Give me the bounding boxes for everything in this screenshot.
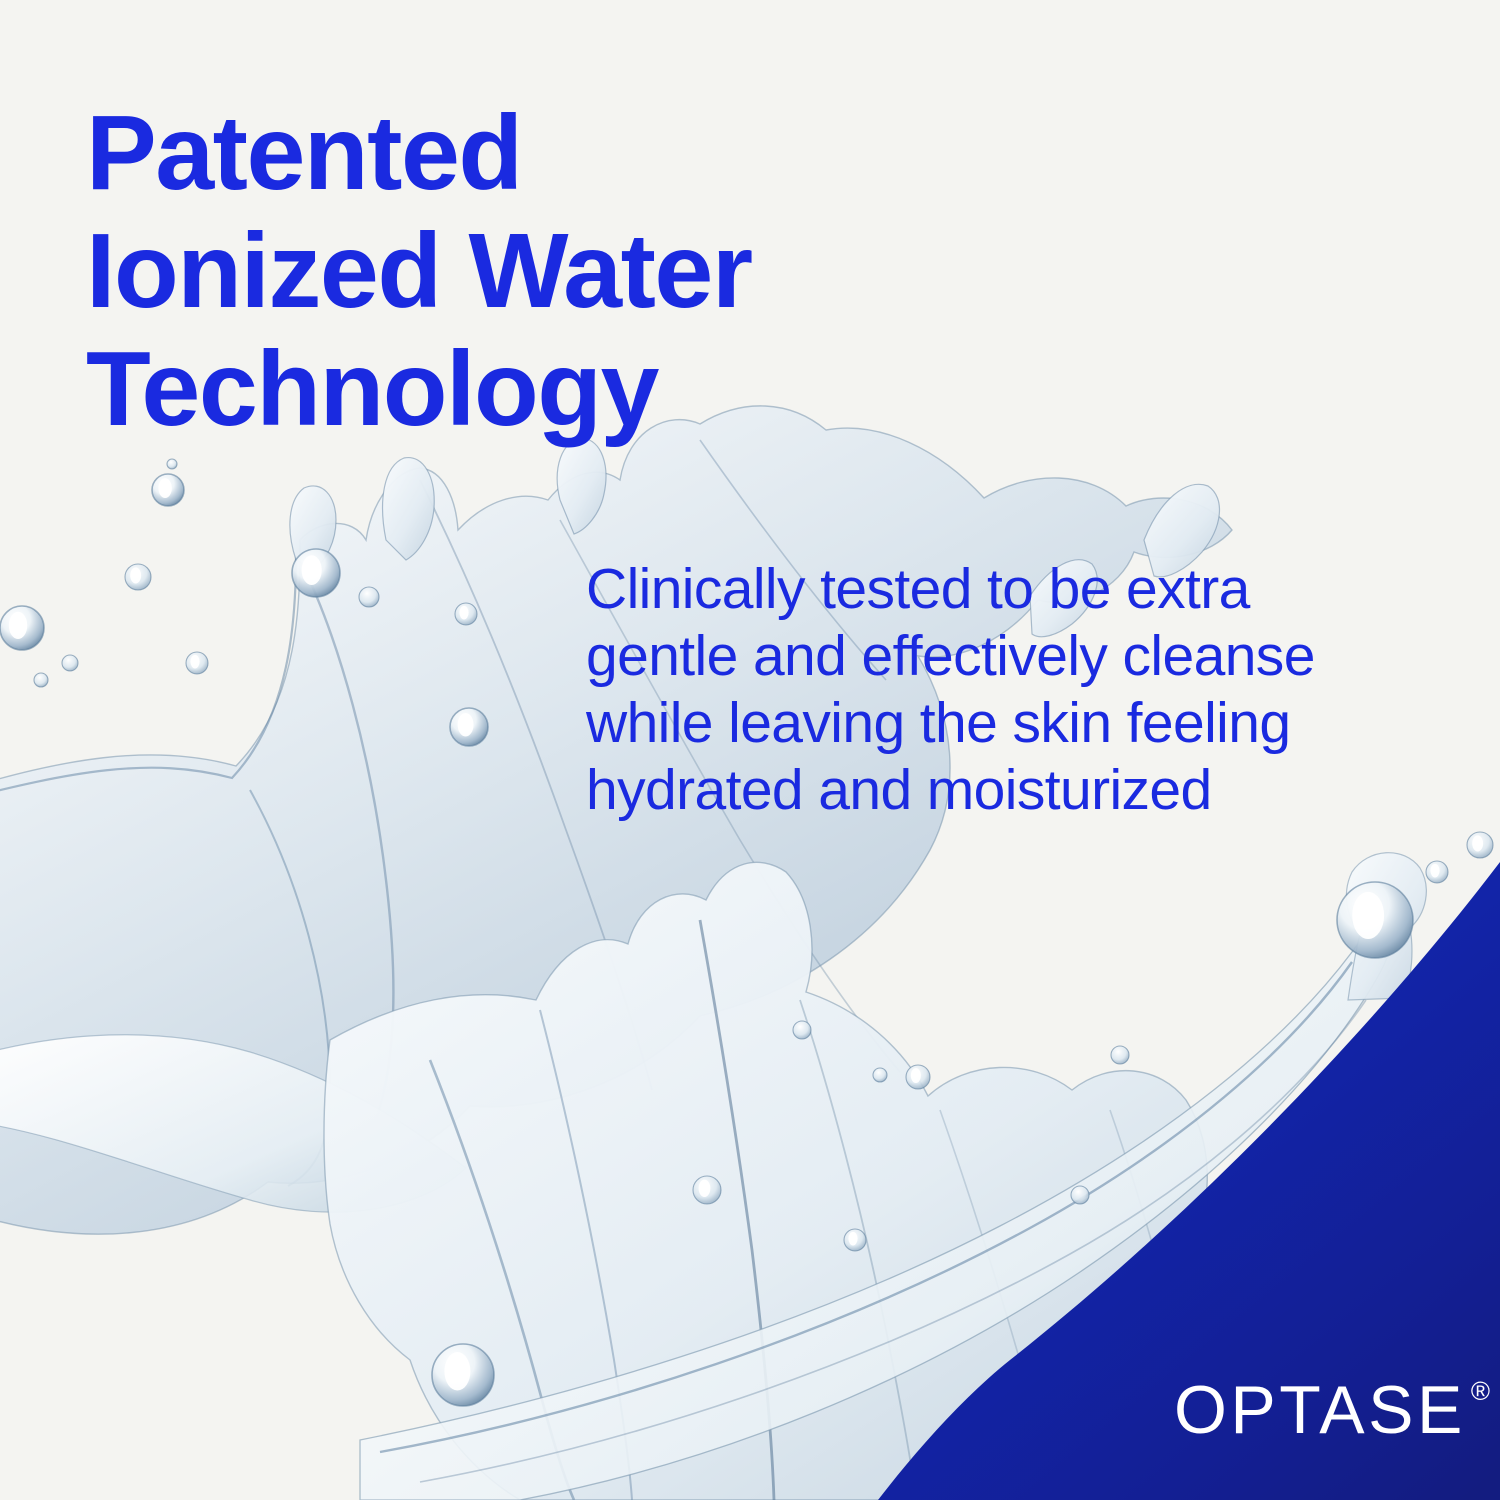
optase-logo: OPTASE ® xyxy=(1174,1376,1490,1444)
promo-canvas: Patented Ionized Water Technology Clinic… xyxy=(0,0,1500,1500)
logo-wordmark: OPTASE xyxy=(1174,1376,1466,1444)
page-headline: Patented Ionized Water Technology xyxy=(86,94,986,448)
supporting-copy: Clinically tested to be extra gentle and… xyxy=(586,556,1456,824)
registered-trademark-icon: ® xyxy=(1471,1378,1490,1404)
